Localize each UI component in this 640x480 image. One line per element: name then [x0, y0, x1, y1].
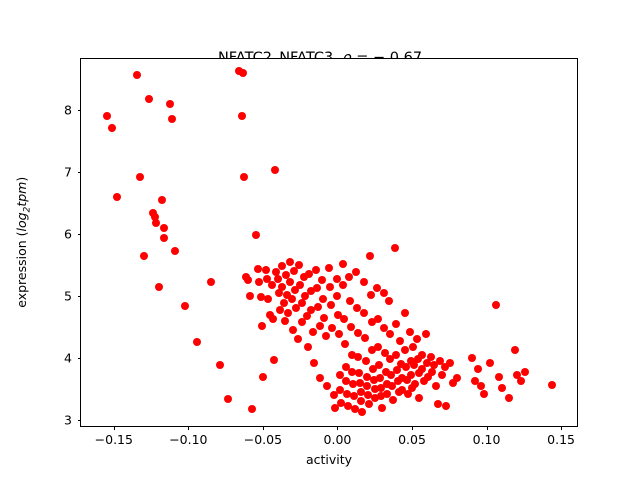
x-tick-mark [487, 426, 488, 430]
scatter-point [255, 278, 263, 286]
scatter-point [339, 260, 347, 268]
scatter-point [136, 173, 144, 181]
scatter-point [316, 374, 324, 382]
scatter-point [286, 258, 294, 266]
scatter-point [246, 292, 254, 300]
scatter-point [486, 359, 494, 367]
scatter-point [335, 330, 343, 338]
scatter-point [340, 315, 348, 323]
scatter-point [498, 384, 506, 392]
x-tick-mark [263, 426, 264, 430]
scatter-point [327, 301, 335, 309]
scatter-point [258, 322, 266, 330]
scatter-point [289, 326, 297, 334]
scatter-point [392, 320, 400, 328]
scatter-point [391, 244, 399, 252]
scatter-point [158, 196, 166, 204]
scatter-point [480, 390, 488, 398]
scatter-point [252, 231, 260, 239]
scatter-point [474, 365, 482, 373]
y-tick-label: 7 [64, 164, 72, 179]
y-tick-label: 5 [64, 288, 72, 303]
scatter-point [284, 309, 292, 317]
scatter-point [224, 395, 232, 403]
scatter-point [432, 382, 440, 390]
scatter-point [386, 330, 394, 338]
x-tick-mark [188, 426, 189, 430]
scatter-point [477, 382, 485, 390]
scatter-point [380, 289, 388, 297]
scatter-point [392, 351, 400, 359]
scatter-point [248, 405, 256, 413]
scatter-point [548, 381, 556, 389]
scatter-point [274, 275, 282, 283]
y-tick-mark [78, 172, 82, 173]
scatter-point [427, 353, 435, 361]
scatter-point [401, 309, 409, 317]
figure-canvas: NFATC2_NFATC3, ρ = − 0.67 hg19_v2_chr16_… [0, 0, 640, 480]
scatter-point [365, 400, 373, 408]
y-axis-label-log: log [14, 213, 29, 232]
y-tick-mark [78, 358, 82, 359]
scatter-point [362, 357, 370, 365]
scatter-point [193, 338, 201, 346]
scatter-point [406, 328, 414, 336]
scatter-point [360, 309, 368, 317]
x-tick-label: 0.00 [324, 432, 352, 447]
scatter-point [361, 334, 369, 342]
scatter-point [310, 359, 318, 367]
y-tick-label: 4 [64, 350, 72, 365]
scatter-point [313, 284, 321, 292]
scatter-point [166, 100, 174, 108]
scatter-point [155, 283, 163, 291]
scatter-point [314, 303, 322, 311]
scatter-point [521, 368, 529, 376]
scatter-point [262, 266, 270, 274]
scatter-point [264, 295, 272, 303]
x-tick-mark [114, 426, 115, 430]
scatter-point [270, 356, 278, 364]
scatter-point [304, 343, 312, 351]
x-tick-mark [561, 426, 562, 430]
scatter-point [339, 281, 347, 289]
x-axis-label: activity [80, 452, 578, 467]
scatter-point [133, 71, 141, 79]
scatter-point [434, 400, 442, 408]
scatter-point [511, 346, 519, 354]
scatter-point [294, 335, 302, 343]
y-axis-label-suffix: ) [14, 177, 29, 182]
scatter-point [322, 332, 330, 340]
x-tick-mark [412, 426, 413, 430]
scatter-point [244, 276, 252, 284]
scatter-point [326, 283, 334, 291]
scatter-point [442, 402, 450, 410]
scatter-point [438, 371, 446, 379]
scatter-point [320, 314, 328, 322]
scatter-point [319, 295, 327, 303]
scatter-point [341, 340, 349, 348]
x-tick-label: −0.10 [169, 432, 207, 447]
scatter-point [160, 224, 168, 232]
y-tick-label: 3 [64, 412, 72, 427]
y-tick-mark [78, 420, 82, 421]
y-tick-mark [78, 234, 82, 235]
y-tick-mark [78, 110, 82, 111]
scatter-point [296, 281, 304, 289]
y-axis-label-subscript: 2 [22, 207, 32, 213]
y-axis-label-text: expression (log2tpm) [14, 177, 33, 308]
scatter-point [216, 361, 224, 369]
scatter-point [411, 380, 419, 388]
scatter-point [280, 299, 288, 307]
scatter-point [495, 373, 503, 381]
scatter-point [281, 317, 289, 325]
scatter-point [288, 295, 296, 303]
scatter-point [401, 346, 409, 354]
scatter-point [446, 359, 454, 367]
scatter-point [103, 112, 111, 120]
scatter-point [396, 337, 404, 345]
scatter-point [140, 252, 148, 260]
y-axis-label-prefix: expression ( [14, 232, 29, 308]
scatter-point [168, 115, 176, 123]
scatter-point [409, 343, 417, 351]
scatter-point [415, 394, 423, 402]
y-tick-mark [78, 296, 82, 297]
scatter-plot-area [81, 59, 577, 426]
y-axis-label-tpm: tpm [14, 182, 29, 207]
scatter-point [367, 291, 375, 299]
scatter-point [378, 404, 386, 412]
scatter-point [269, 315, 277, 323]
scatter-point [108, 124, 116, 132]
plot-axes: −0.15−0.10−0.050.000.050.100.15 345678 [80, 58, 578, 427]
scatter-point [171, 247, 179, 255]
scatter-point [268, 281, 276, 289]
scatter-point [385, 297, 393, 305]
x-tick-label: −0.05 [244, 432, 282, 447]
scatter-point [238, 112, 246, 120]
scatter-point [360, 278, 368, 286]
scatter-point [468, 354, 476, 362]
scatter-point [312, 266, 320, 274]
scatter-point [286, 278, 294, 286]
scatter-point [160, 234, 168, 242]
scatter-point [298, 299, 306, 307]
scatter-point [309, 328, 317, 336]
scatter-point [346, 297, 354, 305]
scatter-point [358, 408, 366, 416]
scatter-point [181, 302, 189, 310]
y-axis-label: expression (log2tpm) [14, 58, 32, 427]
x-tick-label: 0.15 [547, 432, 575, 447]
scatter-point [505, 394, 513, 402]
scatter-point [453, 374, 461, 382]
scatter-point [517, 377, 525, 385]
scatter-point [145, 95, 153, 103]
scatter-point [418, 351, 426, 359]
x-tick-label: 0.05 [398, 432, 426, 447]
y-tick-label: 6 [64, 226, 72, 241]
scatter-point [278, 283, 286, 291]
x-tick-label: 0.10 [473, 432, 501, 447]
scatter-point [295, 261, 303, 269]
scatter-point [374, 315, 382, 323]
scatter-point [323, 382, 331, 390]
x-tick-label: −0.15 [95, 432, 133, 447]
scatter-point [413, 335, 421, 343]
scatter-point [352, 268, 360, 276]
scatter-point [316, 322, 324, 330]
scatter-point [207, 278, 215, 286]
scatter-point [240, 173, 248, 181]
scatter-point [271, 166, 279, 174]
scatter-point [318, 276, 326, 284]
scatter-point [422, 330, 430, 338]
x-tick-mark [337, 426, 338, 430]
scatter-point [259, 373, 267, 381]
scatter-point [366, 252, 374, 260]
scatter-point [325, 264, 333, 272]
scatter-point [113, 193, 121, 201]
scatter-point [278, 262, 286, 270]
scatter-point [333, 292, 341, 300]
scatter-point [389, 396, 397, 404]
scatter-point [492, 301, 500, 309]
y-tick-label: 8 [64, 102, 72, 117]
scatter-point [239, 69, 247, 77]
